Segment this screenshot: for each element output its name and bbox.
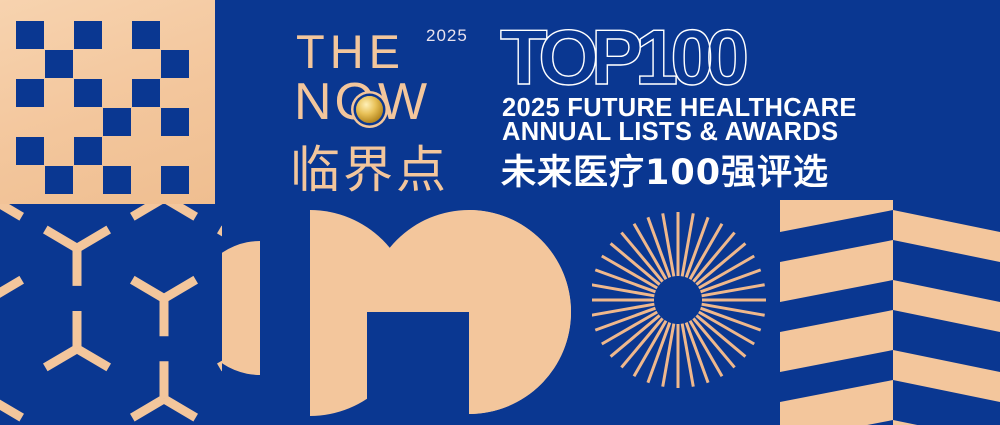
checker-cell bbox=[16, 137, 44, 165]
top100-outline-title: TOP100 bbox=[500, 18, 741, 96]
chevron-stripe-pattern bbox=[780, 200, 1000, 425]
checker-cell bbox=[161, 50, 189, 78]
checker-cell bbox=[45, 166, 73, 194]
checker-cell bbox=[16, 79, 44, 107]
stripes-right bbox=[893, 200, 1000, 425]
half-disc-left bbox=[222, 241, 260, 375]
checker-cell bbox=[16, 21, 44, 49]
the-now-logo: THE 2025 NOW 临界点 bbox=[288, 18, 488, 190]
checker-cell bbox=[132, 21, 160, 49]
checker-cell bbox=[45, 50, 73, 78]
top100-award-banner: THE 2025 NOW 临界点 TOP100 2025 FUTURE HEAL… bbox=[0, 0, 1000, 425]
logo-the-text: THE bbox=[296, 24, 405, 79]
golden-orb-icon bbox=[356, 96, 383, 123]
half-circle-shapes bbox=[222, 198, 590, 425]
checker-cell bbox=[103, 166, 131, 194]
checker-cell bbox=[132, 79, 160, 107]
checker-cell bbox=[74, 137, 102, 165]
checkerboard-pattern bbox=[0, 0, 215, 204]
checker-cell bbox=[103, 108, 131, 136]
headline-line-2: ANNUAL LISTS & AWARDS bbox=[502, 118, 838, 147]
checker-cell bbox=[74, 79, 102, 107]
logo-year-text: 2025 bbox=[426, 26, 468, 46]
checker-cell bbox=[161, 166, 189, 194]
headline-block: TOP100 2025 FUTURE HEALTHCARE ANNUAL LIS… bbox=[500, 18, 860, 193]
checker-cell bbox=[74, 21, 102, 49]
logo-chinese-text: 临界点 bbox=[290, 130, 449, 202]
sunburst-graphic bbox=[592, 206, 772, 406]
headline-chinese: 未来医疗100强评选 bbox=[501, 144, 829, 195]
checker-cell bbox=[161, 108, 189, 136]
hexagon-lattice-pattern bbox=[0, 204, 222, 425]
